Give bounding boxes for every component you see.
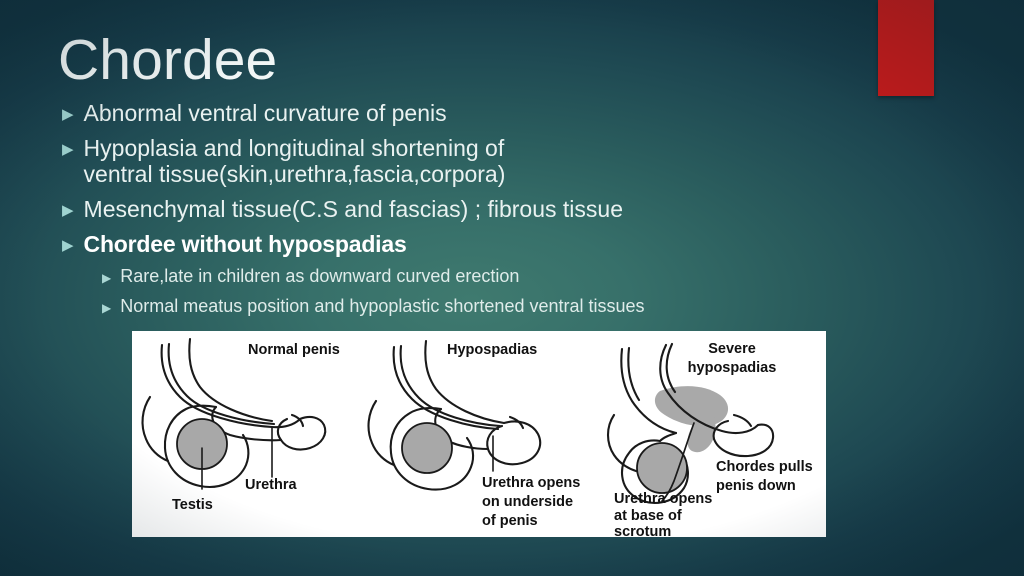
list-item: ▶ Mesenchymal tissue(C.S and fascias) ; … <box>62 196 802 222</box>
red-accent-bar <box>878 0 934 96</box>
list-item: ▶ Normal meatus position and hypoplastic… <box>102 296 802 318</box>
label-urethra-base-3: scrotum <box>614 524 671 537</box>
list-item: ▶ Chordee without hypospadias <box>62 231 802 257</box>
label-chordes-pulls-1: Chordes pulls <box>716 459 813 475</box>
list-item: ▶ Hypoplasia and longitudinal shortening… <box>62 135 802 187</box>
bullet-triangle-icon: ▶ <box>62 203 74 218</box>
list-item: ▶ Abnormal ventral curvature of penis <box>62 100 802 126</box>
label-urethra-opens-1: Urethra opens <box>482 475 580 491</box>
label-urethra: Urethra <box>245 477 298 493</box>
bullet-list: ▶ Abnormal ventral curvature of penis ▶ … <box>62 100 802 325</box>
list-item-label: Normal meatus position and hypoplastic s… <box>120 296 644 318</box>
bullet-triangle-icon: ▶ <box>62 107 74 122</box>
page-title: Chordee <box>58 31 277 91</box>
list-item: ▶ Rare,late in children as downward curv… <box>102 266 802 288</box>
list-item-label: Abnormal ventral curvature of penis <box>84 100 447 126</box>
list-item-label: Chordee without hypospadias <box>84 231 407 257</box>
label-testis: Testis <box>172 497 213 513</box>
label-urethra-opens-2: on underside <box>482 494 573 510</box>
label-chordes-pulls-2: penis down <box>716 478 796 494</box>
label-urethra-base-1: Urethra opens <box>614 491 712 507</box>
label-urethra-base-2: at base of <box>614 508 682 524</box>
slide: Chordee ▶ Abnormal ventral curvature of … <box>0 0 1024 576</box>
panel-title-normal-penis: Normal penis <box>248 342 340 358</box>
bullet-triangle-icon: ▶ <box>62 142 74 157</box>
bullet-triangle-icon: ▶ <box>62 238 74 253</box>
label-urethra-opens-3: of penis <box>482 513 538 529</box>
bullet-triangle-icon: ▶ <box>102 302 111 314</box>
bullet-triangle-icon: ▶ <box>102 272 111 284</box>
panel-title-severe-2: hypospadias <box>688 360 777 376</box>
list-item-label: Mesenchymal tissue(C.S and fascias) ; fi… <box>84 196 623 222</box>
list-item-label: Rare,late in children as downward curved… <box>120 266 519 288</box>
panel-title-hypospadias: Hypospadias <box>447 342 537 358</box>
anatomy-diagram-image: Normal penis Urethra Testis <box>132 331 826 537</box>
list-item-label: Hypoplasia and longitudinal shortening o… <box>84 135 554 187</box>
panel-title-severe-1: Severe <box>708 341 756 357</box>
